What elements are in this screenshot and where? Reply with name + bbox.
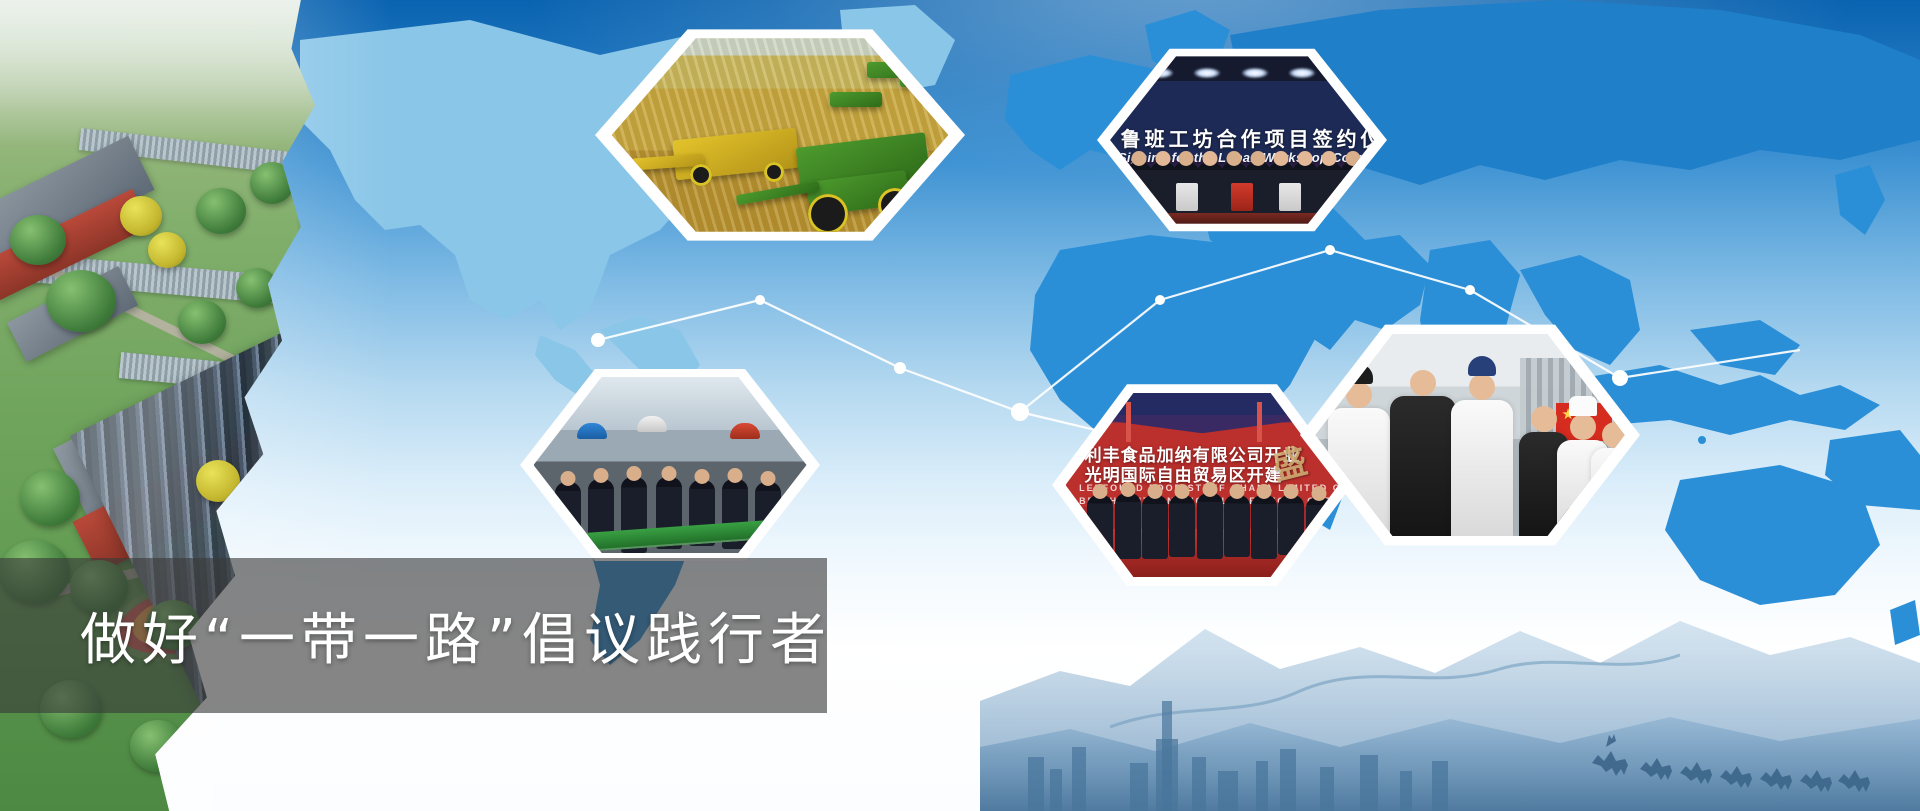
wheel bbox=[808, 194, 848, 232]
wheel bbox=[764, 162, 784, 182]
tree bbox=[120, 196, 162, 236]
face bbox=[1410, 370, 1436, 396]
ghana-ceremony-image: 利丰食品加纳有限公司开业 光明国际自由贸易区开建 LEEFOUND FOOD S… bbox=[1066, 393, 1339, 578]
plant-visit-image bbox=[534, 377, 807, 553]
signing-ceremony-image: 鲁班工坊合作项目签约仪式 Signing for the Luban Works… bbox=[1110, 56, 1374, 223]
face bbox=[1570, 414, 1596, 440]
person bbox=[555, 482, 581, 546]
signed-agreement bbox=[1279, 183, 1301, 211]
hex-photo-harvest[interactable] bbox=[595, 25, 965, 245]
student bbox=[1390, 396, 1456, 536]
student-with-hat bbox=[1451, 400, 1513, 536]
harvest-field-image bbox=[612, 38, 949, 232]
person bbox=[1126, 162, 1152, 220]
combine-harvester bbox=[900, 74, 946, 87]
chef-hat-icon bbox=[1569, 396, 1597, 416]
caption-text: 做好“一带一路”倡议践行者 bbox=[80, 595, 832, 676]
hex-frame bbox=[520, 365, 820, 565]
stage-lamp bbox=[1332, 68, 1358, 78]
tent-pole bbox=[1257, 402, 1262, 443]
person bbox=[1224, 495, 1250, 557]
hex-image-clip: 利丰食品加纳有限公司开业 光明国际自由贸易区开建 LEEFOUND FOOD S… bbox=[1066, 393, 1339, 578]
stage-lights bbox=[1110, 63, 1374, 90]
tree bbox=[10, 215, 66, 265]
hex-image-clip: 鲁班工坊合作项目签约仪式 Signing for the Luban Works… bbox=[1110, 56, 1374, 223]
face bbox=[1602, 422, 1625, 448]
tree bbox=[46, 270, 116, 332]
face bbox=[1469, 374, 1495, 400]
chef-hat-icon bbox=[1468, 356, 1496, 376]
signing-table bbox=[1131, 213, 1353, 223]
person bbox=[1115, 493, 1141, 559]
tree bbox=[20, 470, 80, 526]
hex-frame bbox=[595, 25, 965, 245]
face bbox=[1346, 382, 1372, 408]
caption-band: 做好“一带一路”倡议践行者 bbox=[0, 558, 827, 713]
person bbox=[1316, 162, 1342, 220]
person bbox=[1197, 162, 1223, 220]
combine-harvester bbox=[830, 92, 882, 107]
person bbox=[1251, 495, 1277, 559]
wheel bbox=[690, 164, 712, 186]
hex-frame: 鲁班工坊合作项目签约仪式 Signing for the Luban Works… bbox=[1097, 45, 1387, 235]
person bbox=[755, 482, 781, 546]
culinary-class-image bbox=[1315, 334, 1624, 536]
tent-pole bbox=[1126, 402, 1131, 443]
combine-harvester bbox=[867, 62, 925, 78]
chef-trainee bbox=[1591, 448, 1625, 536]
stage-lamp bbox=[1289, 68, 1315, 78]
person bbox=[1087, 495, 1113, 555]
person bbox=[1142, 495, 1168, 559]
chef-instructor bbox=[1328, 408, 1390, 536]
sky-backdrop bbox=[534, 377, 807, 430]
signed-agreement bbox=[1231, 183, 1253, 211]
stage-lamp bbox=[1147, 68, 1173, 78]
stage-lamp bbox=[1194, 68, 1220, 78]
hex-photo-culinary-exchange[interactable] bbox=[1300, 320, 1640, 550]
tree bbox=[196, 188, 246, 234]
hex-image-clip bbox=[534, 377, 807, 553]
face bbox=[1531, 406, 1557, 432]
hex-image-clip bbox=[1315, 334, 1624, 536]
stage-lamp bbox=[1242, 68, 1268, 78]
hex-photo-africa-plant-visit[interactable] bbox=[520, 365, 820, 565]
banner-root: 鲁班工坊合作项目签约仪式 Signing for the Luban Works… bbox=[0, 0, 1920, 811]
delegation-row bbox=[1110, 160, 1374, 224]
person bbox=[1340, 162, 1366, 220]
chef-hat-icon bbox=[1345, 364, 1373, 384]
ceremony-tent bbox=[1066, 393, 1339, 434]
person bbox=[1169, 495, 1195, 557]
hex-image-clip bbox=[612, 38, 949, 232]
wheel bbox=[878, 188, 912, 222]
silk-road-silhouette bbox=[980, 551, 1920, 811]
signed-agreement bbox=[1176, 183, 1198, 211]
person bbox=[1150, 162, 1176, 220]
person bbox=[1197, 493, 1223, 559]
tree bbox=[178, 300, 226, 344]
hex-frame bbox=[1300, 320, 1640, 550]
tree bbox=[148, 232, 186, 268]
banner-headline-cn: 鲁班工坊合作项目签约仪式 bbox=[1121, 123, 1369, 152]
hex-photo-luban-workshop-signing[interactable]: 鲁班工坊合作项目签约仪式 Signing for the Luban Works… bbox=[1097, 45, 1387, 235]
